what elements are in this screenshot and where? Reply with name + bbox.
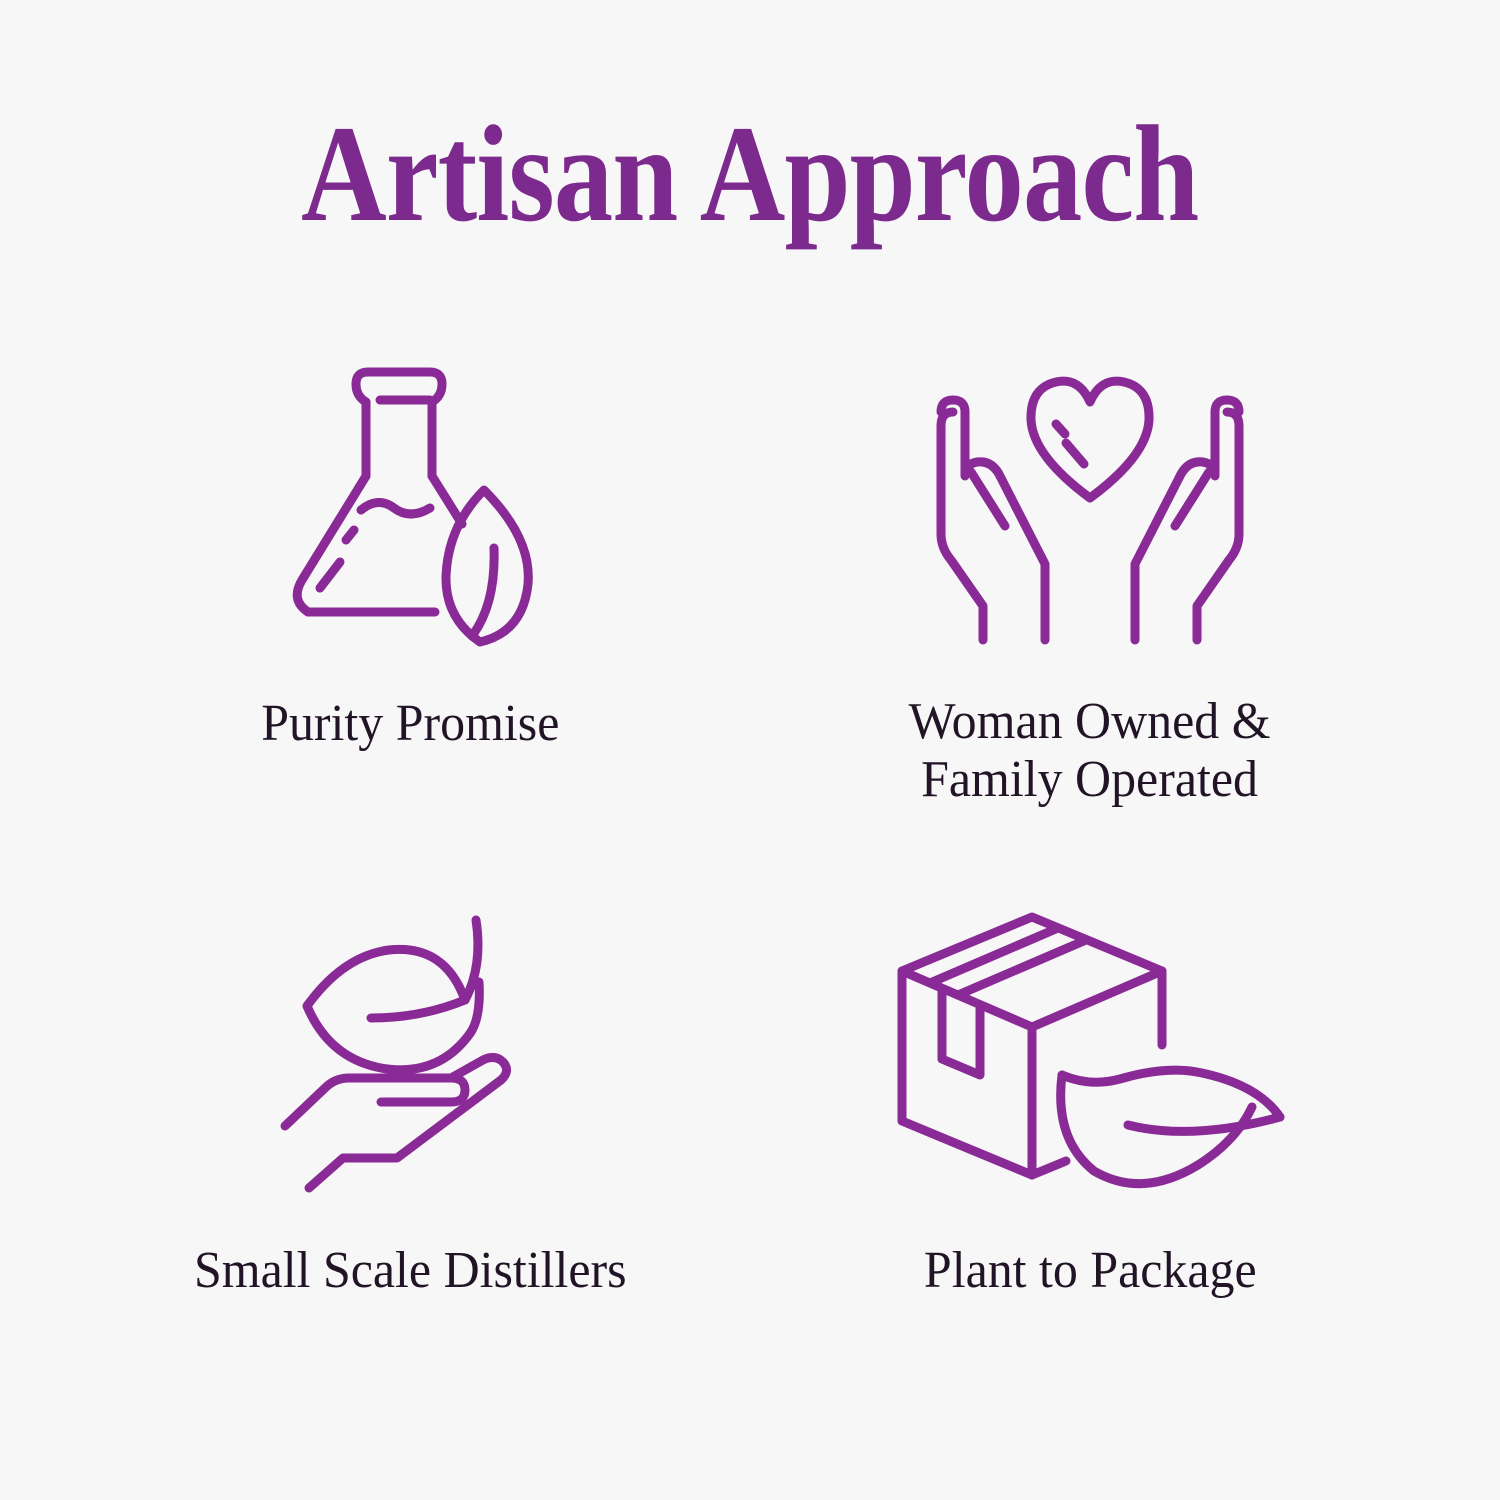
feature-item-woman-owned: Woman Owned & Family Operated xyxy=(750,355,1430,880)
page-title: Artisan Approach xyxy=(301,104,1198,245)
flask-leaf-icon xyxy=(70,355,750,655)
box-leaf-icon xyxy=(750,894,1430,1198)
feature-grid: Purity Promise xyxy=(70,355,1430,1405)
hand-leaf-icon xyxy=(70,894,750,1198)
feature-item-purity-promise: Purity Promise xyxy=(70,355,750,880)
page-title-container: Artisan Approach xyxy=(0,104,1500,245)
feature-label-purity-promise: Purity Promise xyxy=(261,695,559,753)
feature-label-line: Plant to Package xyxy=(924,1242,1257,1300)
feature-label-line: Woman Owned & xyxy=(909,693,1271,751)
feature-label-line: Family Operated xyxy=(909,751,1271,809)
feature-label-line: Purity Promise xyxy=(261,695,559,753)
feature-label-small-scale-distillers: Small Scale Distillers xyxy=(194,1242,627,1300)
feature-label-plant-to-package: Plant to Package xyxy=(924,1242,1257,1300)
feature-label-woman-owned: Woman Owned & Family Operated xyxy=(909,693,1271,809)
feature-item-plant-to-package: Plant to Package xyxy=(750,894,1430,1405)
hands-heart-icon xyxy=(750,355,1430,655)
feature-item-small-scale-distillers: Small Scale Distillers xyxy=(70,894,750,1405)
artisan-approach-panel: Artisan Approach xyxy=(0,0,1500,1500)
feature-label-line: Small Scale Distillers xyxy=(194,1242,627,1300)
